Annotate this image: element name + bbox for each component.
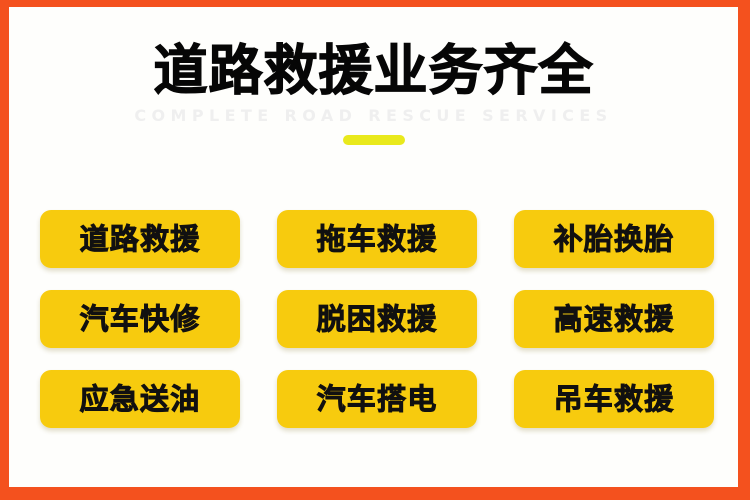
service-button-6[interactable]: 高速救援: [514, 290, 714, 348]
poster-frame: 道路救援业务齐全 COMPLETE ROAD RESCUE SERVICES 道…: [0, 0, 750, 500]
service-button-label: 汽车快修: [80, 305, 201, 334]
service-button-8[interactable]: 汽车搭电: [277, 370, 477, 428]
service-button-label: 吊车救援: [554, 385, 675, 414]
header-block: 道路救援业务齐全 COMPLETE ROAD RESCUE SERVICES: [9, 7, 738, 145]
page-subtitle: COMPLETE ROAD RESCUE SERVICES: [9, 99, 738, 125]
service-button-label: 补胎换胎: [554, 225, 675, 254]
service-button-5[interactable]: 脱困救援: [277, 290, 477, 348]
service-button-3[interactable]: 补胎换胎: [514, 210, 714, 268]
service-button-9[interactable]: 吊车救援: [514, 370, 714, 428]
poster-canvas: 道路救援业务齐全 COMPLETE ROAD RESCUE SERVICES 道…: [9, 7, 738, 487]
divider-wrap: [9, 125, 738, 145]
service-button-label: 拖车救援: [317, 225, 438, 254]
service-button-grid: 道路救援 拖车救援 补胎换胎 汽车快修 脱困救援 高速救援 应急送油 汽车搭电: [40, 210, 710, 428]
service-button-label: 高速救援: [554, 305, 675, 334]
service-button-label: 汽车搭电: [317, 385, 438, 414]
service-button-label: 脱困救援: [317, 305, 438, 334]
divider-pill: [343, 135, 405, 145]
service-button-label: 道路救援: [80, 225, 201, 254]
page-title: 道路救援业务齐全: [9, 7, 738, 99]
service-button-7[interactable]: 应急送油: [40, 370, 240, 428]
service-button-2[interactable]: 拖车救援: [277, 210, 477, 268]
service-button-4[interactable]: 汽车快修: [40, 290, 240, 348]
service-button-1[interactable]: 道路救援: [40, 210, 240, 268]
service-button-label: 应急送油: [80, 385, 201, 414]
